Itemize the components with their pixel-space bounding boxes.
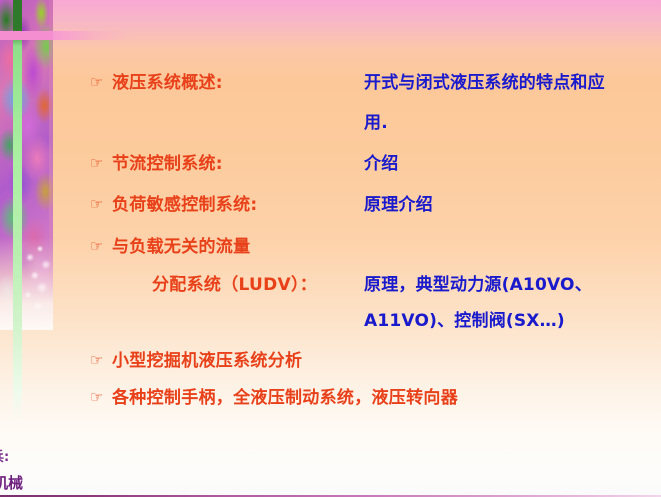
bullet-row-4-label: 与负载无关的流量 <box>112 232 250 257</box>
pointing-hand-icon: ☞ <box>90 156 112 171</box>
bullet-row-4: ☞ 与负载无关的流量 <box>90 232 250 257</box>
bullet-row-1-value: 开式与闭式液压系统的特点和应 <box>364 68 605 93</box>
bullet-row-1-label: 液压系统概述: <box>112 68 223 93</box>
footer-presenter: 启兵: <box>0 446 9 465</box>
bullet-row-5-label: 小型挖掘机液压系统分析 <box>112 346 302 371</box>
pointing-hand-icon: ☞ <box>90 390 112 405</box>
slide-content: ☞ 液压系统概述: 开式与闭式液压系统的特点和应 用. ☞ 节流控制系统: 介绍… <box>0 0 661 497</box>
pointing-hand-icon: ☞ <box>90 353 112 368</box>
bullet-row-3: ☞ 负荷敏感控制系统: <box>90 190 258 215</box>
footer-org-line1: 程机械 <box>0 472 23 493</box>
bullet-row-4-value-cont: A11VO)、控制阀(SX…) <box>364 306 565 331</box>
bullet-row-2-value: 介绍 <box>364 149 398 174</box>
bullet-row-4-value-cont-text: A11VO)、控制阀(SX…) <box>364 306 565 331</box>
bullet-row-1-value-cont-text: 用. <box>364 108 388 133</box>
pointing-hand-icon: ☞ <box>90 239 112 254</box>
bullet-row-4-label-cont-text: 分配系统（LUDV）： <box>152 270 317 295</box>
bullet-row-3-value: 原理介绍 <box>364 190 433 215</box>
bullet-row-5: ☞ 小型挖掘机液压系统分析 <box>90 346 302 371</box>
bullet-row-4-label-cont: 分配系统（LUDV）： <box>152 270 317 295</box>
bullet-row-6-label: 各种控制手柄，全液压制动系统，液压转向器 <box>112 383 458 408</box>
bullet-row-6: ☞ 各种控制手柄，全液压制动系统，液压转向器 <box>90 383 458 408</box>
pointing-hand-icon: ☞ <box>90 197 112 212</box>
bullet-row-2-value-text: 介绍 <box>364 149 398 174</box>
bullet-row-2: ☞ 节流控制系统: <box>90 149 223 174</box>
pointing-hand-icon: ☞ <box>90 75 112 90</box>
bullet-row-2-label: 节流控制系统: <box>112 149 223 174</box>
bullet-row-4-value-text: 原理，典型动力源(A10VO、 <box>364 270 592 295</box>
bullet-row-3-label: 负荷敏感控制系统: <box>112 190 258 215</box>
bullet-row-1-value-text: 开式与闭式液压系统的特点和应 <box>364 68 605 93</box>
bullet-row-1-value-cont: 用. <box>364 108 388 133</box>
bullet-row-4-value: 原理，典型动力源(A10VO、 <box>364 270 592 295</box>
slide-canvas: ☞ 液压系统概述: 开式与闭式液压系统的特点和应 用. ☞ 节流控制系统: 介绍… <box>0 0 661 497</box>
bullet-row-1: ☞ 液压系统概述: <box>90 68 223 93</box>
bullet-row-3-value-text: 原理介绍 <box>364 190 433 215</box>
